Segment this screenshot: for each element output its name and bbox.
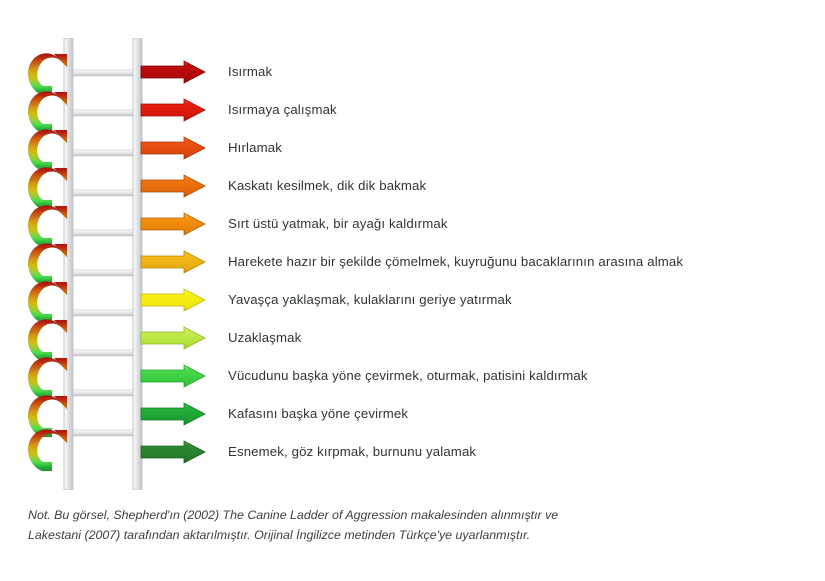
step-arrow-icon: [140, 212, 206, 236]
step-label: Kaskatı kesilmek, dik dik bakmak: [228, 178, 426, 194]
step-arrow-icon: [140, 326, 206, 350]
ladder-row: Isırmak: [0, 54, 825, 90]
step-label: Sırt üstü yatmak, bir ayağı kaldırmak: [228, 216, 448, 232]
figure-note: Not. Bu görsel, Shepherd'ın (2002) The C…: [28, 505, 728, 545]
ladder-row: Kafasını başka yöne çevirmek: [0, 396, 825, 432]
step-label: Vücudunu başka yöne çevirmek, oturmak, p…: [228, 368, 588, 384]
step-arrow-icon: [140, 98, 206, 122]
ladder-row: Yavaşça yaklaşmak, kulaklarını geriye ya…: [0, 282, 825, 318]
ladder-row: Uzaklaşmak: [0, 320, 825, 356]
step-arrow-icon: [140, 174, 206, 198]
ladder-row: Hırlamak: [0, 130, 825, 166]
figure-note-line-2: Lakestani (2007) tarafından aktarılmıştı…: [28, 525, 728, 545]
canine-ladder-of-aggression-figure: Isırmak Isırmaya çalışmak: [0, 0, 825, 581]
ladder-row: Vücudunu başka yöne çevirmek, oturmak, p…: [0, 358, 825, 394]
step-arrow-icon: [140, 364, 206, 388]
step-label: Hırlamak: [228, 140, 282, 156]
ladder-row: Sırt üstü yatmak, bir ayağı kaldırmak: [0, 206, 825, 242]
step-arrow-icon: [140, 136, 206, 160]
step-label: Kafasını başka yöne çevirmek: [228, 406, 408, 422]
ladder-row: Kaskatı kesilmek, dik dik bakmak: [0, 168, 825, 204]
step-label: Uzaklaşmak: [228, 330, 301, 346]
ladder-row: Isırmaya çalışmak: [0, 92, 825, 128]
step-label: Isırmaya çalışmak: [228, 102, 337, 118]
step-arrow-icon: [140, 60, 206, 84]
step-label: Yavaşça yaklaşmak, kulaklarını geriye ya…: [228, 292, 512, 308]
step-arrow-icon: [140, 288, 206, 312]
step-arrow-icon: [140, 250, 206, 274]
step-arrow-icon: [140, 402, 206, 426]
ladder-row: Esnemek, göz kırpmak, burnunu yalamak: [0, 434, 825, 470]
figure-note-line-1: Not. Bu görsel, Shepherd'ın (2002) The C…: [28, 505, 728, 525]
step-arrow-icon: [140, 440, 206, 464]
aggression-step-list: Isırmak Isırmaya çalışmak: [0, 0, 825, 581]
step-label: Harekete hazır bir şekilde çömelmek, kuy…: [228, 254, 683, 270]
step-label: Esnemek, göz kırpmak, burnunu yalamak: [228, 444, 476, 460]
ladder-row: Harekete hazır bir şekilde çömelmek, kuy…: [0, 244, 825, 280]
step-label: Isırmak: [228, 64, 272, 80]
